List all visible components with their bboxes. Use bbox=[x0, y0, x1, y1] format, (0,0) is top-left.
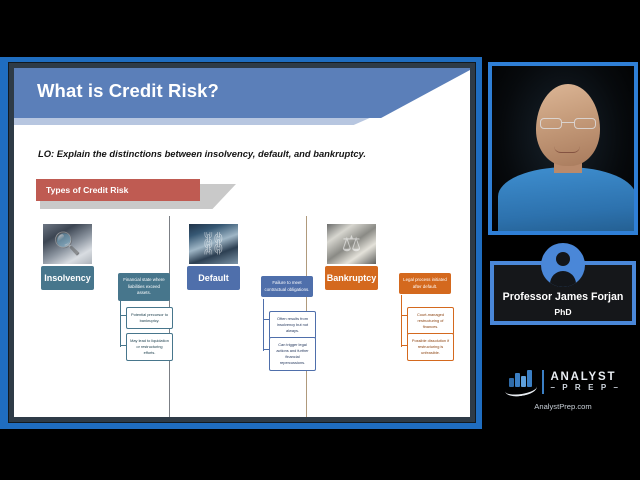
bankruptcy-thumbnail: ⚖ bbox=[326, 223, 377, 265]
insolvency-subpoint: May lead to liquidation or restructuring… bbox=[126, 333, 173, 361]
insolvency-description: Financial state where liabilities exceed… bbox=[118, 273, 170, 301]
concept-column-insolvency: 🔍 Insolvency Financial state where liabi… bbox=[20, 223, 168, 417]
avatar-body bbox=[550, 271, 576, 287]
slide-inner-border: What is Credit Risk? LO: Explain the dis… bbox=[8, 62, 476, 423]
slide-header-accent-band bbox=[14, 118, 470, 125]
default-subpoint: Often results from insolvency but not al… bbox=[269, 311, 316, 339]
insolvency-label: Insolvency bbox=[41, 266, 94, 290]
eyeglasses-icon bbox=[539, 118, 597, 129]
default-description: Failure to meet contractual obligations. bbox=[261, 276, 313, 297]
broken-chain-icon: ⛓ bbox=[189, 224, 238, 264]
magnifying-glass-icon: 🔍 bbox=[43, 224, 92, 264]
connector-line bbox=[120, 295, 121, 347]
section-banner: Types of Credit Risk bbox=[36, 179, 236, 209]
analystprep-logo: ANALYST – P R E P – bbox=[486, 362, 640, 402]
avatar-head bbox=[556, 252, 570, 266]
section-banner-label: Types of Credit Risk bbox=[36, 185, 128, 195]
logo-word-prep: – P R E P – bbox=[550, 383, 620, 393]
bar-chart-swoosh-logo-icon bbox=[505, 368, 537, 396]
presenter-video-feed bbox=[492, 66, 634, 231]
connector-line bbox=[401, 295, 402, 347]
insolvency-thumbnail: 🔍 bbox=[42, 223, 93, 265]
default-thumbnail: ⛓ bbox=[188, 223, 239, 265]
logo-divider bbox=[542, 370, 544, 394]
concept-column-bankruptcy: ⚖ Bankruptcy Legal process initiated aft… bbox=[310, 223, 458, 417]
default-label: Default bbox=[187, 266, 240, 290]
bankruptcy-label: Bankruptcy bbox=[325, 266, 378, 290]
learning-objective-text: LO: Explain the distinctions between ins… bbox=[38, 148, 366, 159]
bankruptcy-subpoint: Possible dissolution if restructuring is… bbox=[407, 333, 454, 361]
video-stage: What is Credit Risk? LO: Explain the dis… bbox=[0, 0, 640, 480]
insolvency-subpoint: Potential precursor to bankruptcy. bbox=[126, 307, 173, 329]
brand-website-url: AnalystPrep.com bbox=[486, 402, 640, 411]
connector-line bbox=[263, 299, 264, 351]
presentation-slide: What is Credit Risk? LO: Explain the dis… bbox=[14, 68, 470, 417]
presenter-mouth bbox=[554, 146, 580, 153]
bankruptcy-subpoint: Court-managed restructuring of finances. bbox=[407, 307, 454, 335]
logo-wordmark: ANALYST – P R E P – bbox=[550, 371, 620, 393]
webcam-frame bbox=[488, 62, 638, 235]
section-banner-body: Types of Credit Risk bbox=[36, 179, 200, 201]
presenter-degree: PhD bbox=[488, 307, 638, 317]
person-avatar-icon bbox=[541, 243, 585, 287]
lens-bridge bbox=[562, 122, 574, 123]
logo-word-analyst: ANALYST bbox=[550, 371, 620, 383]
gavel-icon: ⚖ bbox=[327, 224, 376, 264]
concept-column-default: ⛓ Default Failure to meet contractual ob… bbox=[172, 223, 305, 417]
presenter-shirt bbox=[498, 167, 634, 231]
presenter-name-card: Professor James Forjan PhD bbox=[488, 243, 638, 331]
slide-title: What is Credit Risk? bbox=[37, 80, 219, 102]
presenter-panel: Professor James Forjan PhD ANALYST – P R… bbox=[486, 0, 640, 480]
lens-right bbox=[574, 118, 596, 129]
bankruptcy-description: Legal process initiated after default. bbox=[399, 273, 451, 294]
lens-left bbox=[540, 118, 562, 129]
presenter-name: Professor James Forjan bbox=[488, 291, 638, 303]
default-subpoint: Can trigger legal actions and further fi… bbox=[269, 337, 316, 371]
slide-outer-border: What is Credit Risk? LO: Explain the dis… bbox=[0, 57, 482, 429]
